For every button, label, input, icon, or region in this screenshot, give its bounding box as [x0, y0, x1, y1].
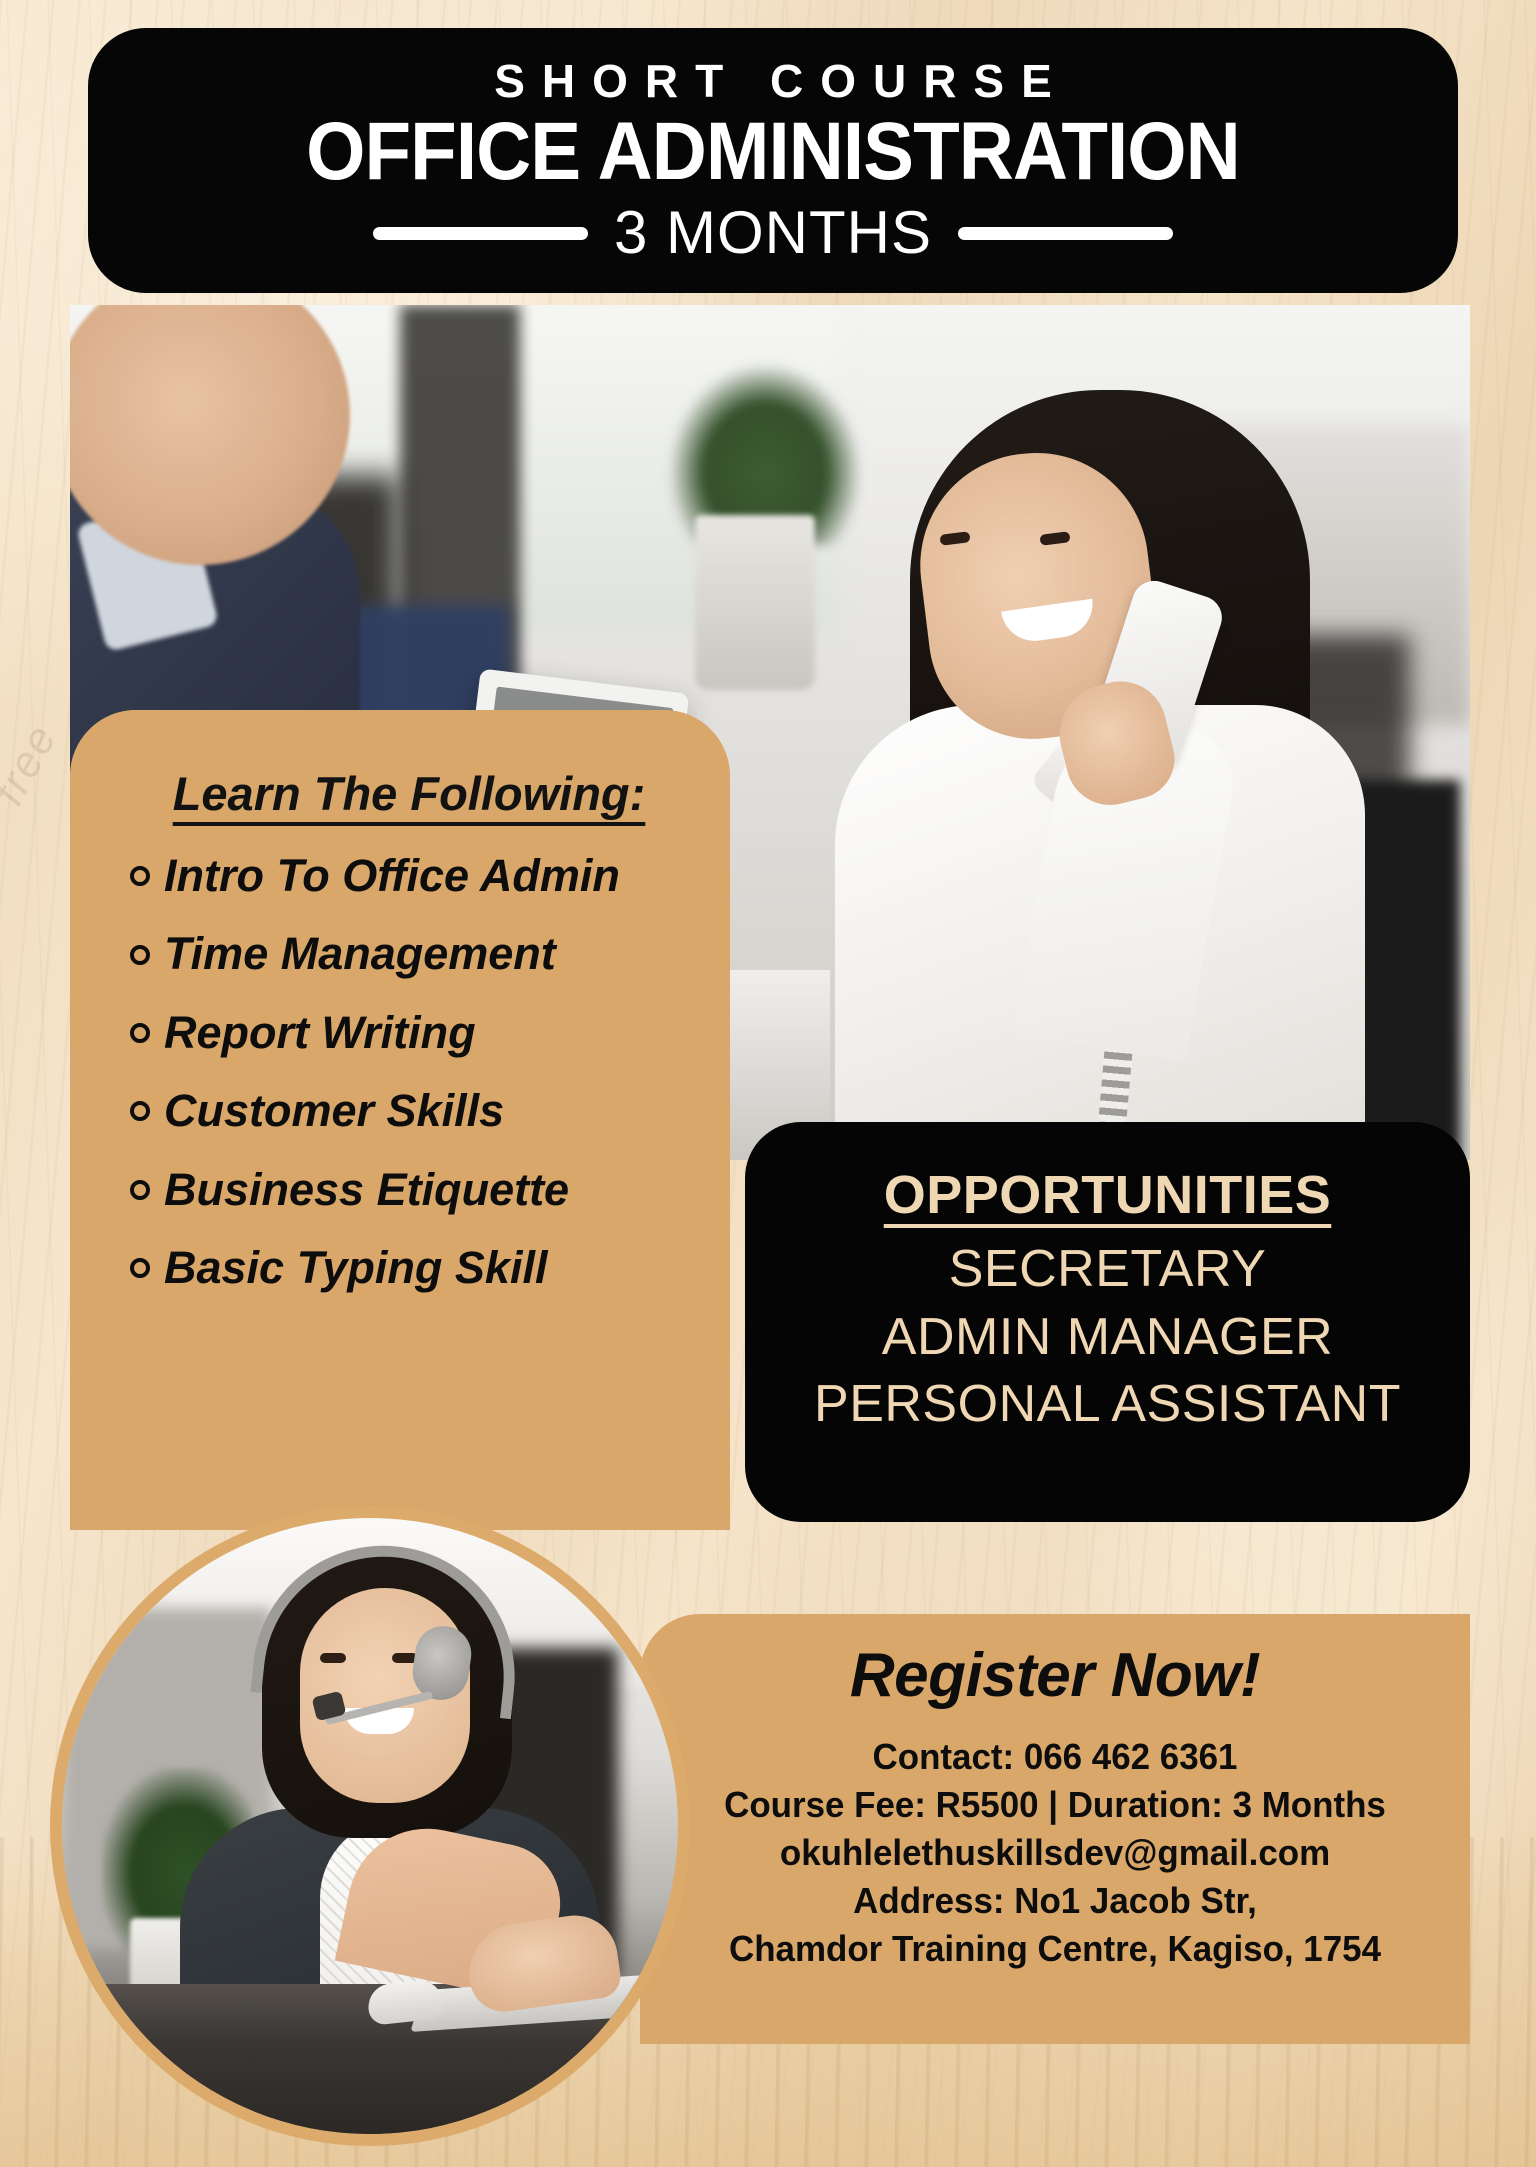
- circular-photo-frame: [50, 1506, 690, 2146]
- bullet-circle-icon: [130, 866, 150, 886]
- register-title: Register Now!: [662, 1640, 1448, 1711]
- contact-email-line[interactable]: okuhlelethuskillsdev@gmail.com: [674, 1829, 1436, 1877]
- learn-list-title: Learn The Following:: [118, 766, 700, 821]
- bullet-circle-icon: [130, 1258, 150, 1278]
- header-kicker: SHORT COURSE: [477, 58, 1069, 104]
- list-item-label: Customer Skills: [164, 1086, 504, 1136]
- duration-label: 3 MONTHS: [614, 203, 932, 263]
- rule-left-icon: [373, 227, 588, 240]
- list-item-label: Business Etiquette: [164, 1165, 569, 1215]
- opportunity-role: ADMIN MANAGER: [745, 1304, 1470, 1372]
- page-title: OFFICE ADMINISTRATION: [306, 110, 1240, 194]
- list-item: Time Management: [130, 929, 700, 979]
- opportunities-title: OPPORTUNITIES: [745, 1164, 1470, 1226]
- bullet-circle-icon: [130, 945, 150, 965]
- contact-phone-line[interactable]: Contact: 066 462 6361: [674, 1733, 1436, 1781]
- list-item-label: Intro To Office Admin: [164, 851, 620, 901]
- learn-list-inner: Learn The Following: Intro To Office Adm…: [70, 710, 730, 1293]
- rule-right-icon: [958, 227, 1173, 240]
- list-item: Customer Skills: [130, 1086, 700, 1136]
- flyer-page: free SHORT COURSE OFFICE ADMINI: [0, 0, 1536, 2167]
- address-line-1: Address: No1 Jacob Str,: [674, 1877, 1436, 1925]
- plant-pot-icon: [695, 515, 815, 690]
- header-banner: SHORT COURSE OFFICE ADMINISTRATION 3 MON…: [88, 28, 1458, 293]
- opportunity-role: SECRETARY: [745, 1236, 1470, 1304]
- list-item: Report Writing: [130, 1008, 700, 1058]
- bullet-circle-icon: [130, 1180, 150, 1200]
- list-item-label: Time Management: [164, 929, 556, 979]
- address-line-2: Chamdor Training Centre, Kagiso, 1754: [674, 1925, 1436, 1973]
- opportunities-panel: OPPORTUNITIES SECRETARY ADMIN MANAGER PE…: [745, 1122, 1470, 1522]
- duration-row: 3 MONTHS: [373, 203, 1173, 263]
- list-item-label: Report Writing: [164, 1008, 476, 1058]
- register-panel: Register Now! Contact: 066 462 6361 Cour…: [640, 1614, 1470, 2044]
- course-fee-line: Course Fee: R5500 | Duration: 3 Months: [674, 1781, 1436, 1829]
- learn-list-panel: Learn The Following: Intro To Office Adm…: [70, 710, 730, 1530]
- bullet-circle-icon: [130, 1101, 150, 1121]
- headset-agent-photo: [62, 1518, 678, 2134]
- watermark-text: free: [0, 716, 68, 813]
- list-item: Intro To Office Admin: [130, 851, 700, 901]
- list-item: Basic Typing Skill: [130, 1243, 700, 1293]
- list-item: Business Etiquette: [130, 1165, 700, 1215]
- bullet-circle-icon: [130, 1023, 150, 1043]
- list-item-label: Basic Typing Skill: [164, 1243, 547, 1293]
- opportunity-role: PERSONAL ASSISTANT: [745, 1371, 1470, 1439]
